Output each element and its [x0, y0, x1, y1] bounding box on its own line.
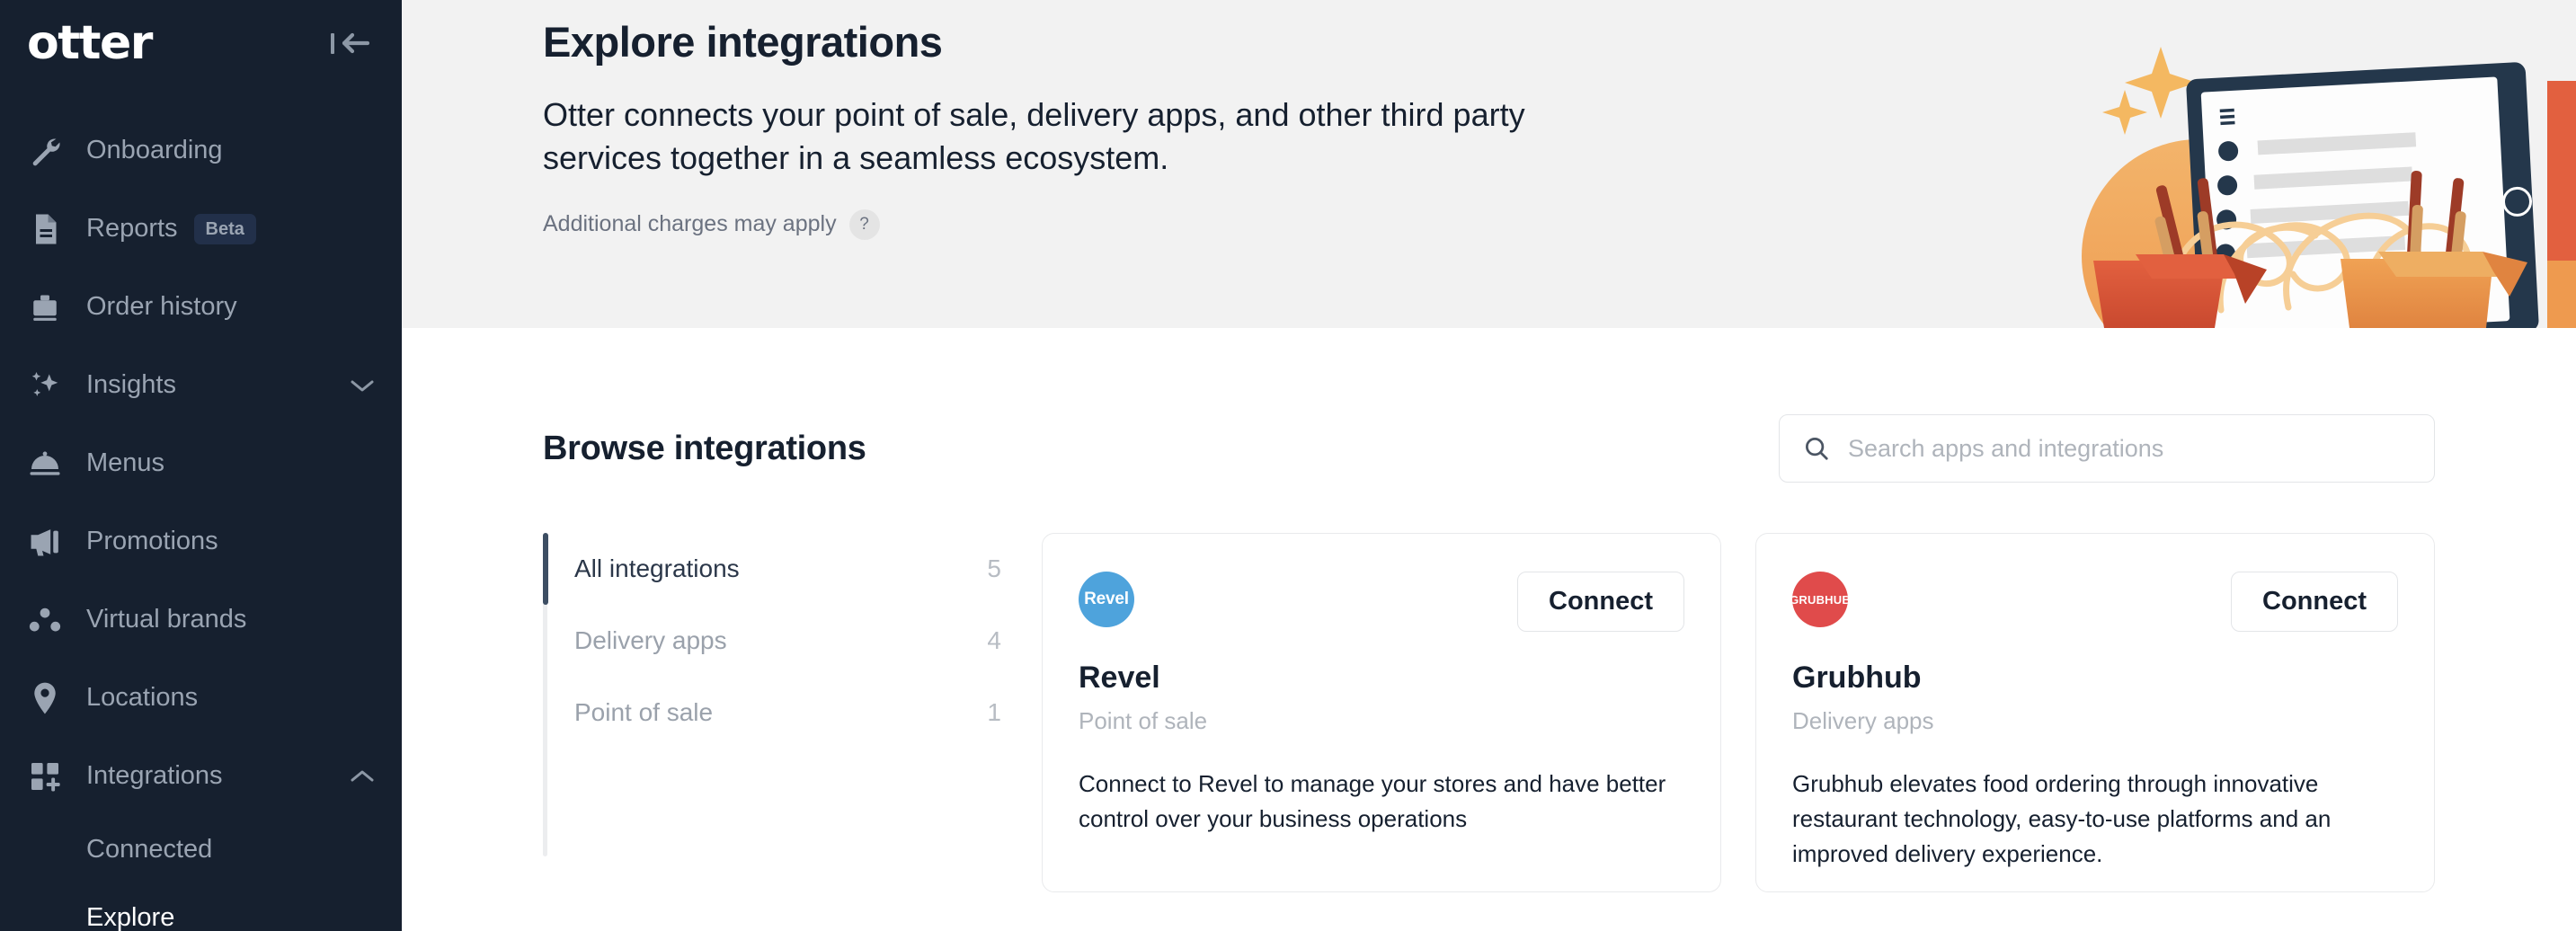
sidebar-item-promotions[interactable]: Promotions [0, 502, 402, 581]
chevron-down-icon[interactable] [350, 377, 375, 394]
main-content: Explore integrations Otter connects your… [402, 0, 2576, 931]
sidebar-item-locations[interactable]: Locations [0, 659, 402, 737]
active-marker [543, 677, 548, 749]
otter-logo: otter [27, 20, 152, 66]
sidebar-subitem-connected[interactable]: Connected [0, 815, 402, 883]
wrench-icon [27, 133, 63, 169]
three-dots-icon [27, 602, 63, 638]
collapse-bar [331, 33, 334, 54]
food-dome-icon [27, 446, 63, 482]
sidebar-item-reports[interactable]: Reports Beta [0, 190, 402, 268]
hero-note-text: Additional charges may apply [543, 213, 837, 235]
card-title: Revel [1079, 662, 1684, 693]
collapse-left-icon[interactable] [325, 24, 375, 62]
sidebar-item-order-history[interactable]: Order history [0, 268, 402, 346]
integration-cards: Revel Connect Revel Point of sale Connec… [1042, 533, 2435, 892]
map-pin-icon [27, 680, 63, 716]
sidebar-item-virtual-brands[interactable]: Virtual brands [0, 581, 402, 659]
filter-count: 4 [987, 628, 1001, 653]
document-icon [27, 211, 63, 247]
sidebar-item-label: Reports [86, 216, 178, 242]
sidebar-item-insights[interactable]: Insights [0, 346, 402, 424]
search-icon [1803, 435, 1830, 462]
hero-note: Additional charges may apply ? [543, 209, 2576, 240]
active-marker [543, 605, 548, 677]
active-marker [543, 533, 548, 605]
sidebar-header: otter [0, 0, 402, 86]
sidebar-item-label: Insights [86, 372, 176, 398]
hero-subtitle: Otter connects your point of sale, deliv… [543, 93, 1586, 181]
filter-point-of-sale[interactable]: Point of sale 1 [543, 677, 1042, 749]
browse-title: Browse integrations [543, 431, 866, 465]
card-header: GRUBHUB Connect [1792, 572, 2398, 632]
filter-count: 1 [987, 700, 1001, 725]
sidebar-subitem-label: Connected [86, 837, 212, 863]
filter-list: All integrations 5 Delivery apps 4 Point… [543, 533, 1042, 892]
filter-all-integrations[interactable]: All integrations 5 [543, 533, 1042, 605]
grid-plus-icon [27, 758, 63, 794]
search-input[interactable] [1848, 435, 2411, 463]
card-category: Point of sale [1079, 709, 1684, 732]
revel-logo-icon: Revel [1079, 572, 1134, 627]
sidebar-item-label: Locations [86, 685, 198, 711]
connect-button[interactable]: Connect [2231, 572, 2398, 632]
card-category: Delivery apps [1792, 709, 2398, 732]
app-root: otter Onboarding [0, 0, 2576, 931]
sidebar-item-label: Order history [86, 294, 237, 320]
hero-text: Explore integrations Otter connects your… [402, 0, 2576, 240]
sidebar-subitem-explore[interactable]: Explore [0, 883, 402, 931]
card-title: Grubhub [1792, 662, 2398, 693]
filter-label: All integrations [574, 556, 740, 581]
browse-header: Browse integrations [543, 414, 2576, 483]
integration-card-grubhub[interactable]: GRUBHUB Connect Grubhub Delivery apps Gr… [1755, 533, 2435, 892]
browse-integrations-section: Browse integrations All integrations 5 [402, 328, 2576, 892]
sidebar-item-label: Virtual brands [86, 607, 246, 633]
grubhub-logo-icon: GRUBHUB [1792, 572, 1848, 627]
card-description: Connect to Revel to manage your stores a… [1079, 767, 1684, 837]
sidebar-item-label: Onboarding [86, 137, 223, 164]
bag-icon [27, 289, 63, 325]
filter-label: Point of sale [574, 700, 713, 725]
megaphone-icon [27, 524, 63, 560]
card-header: Revel Connect [1079, 572, 1684, 632]
filter-delivery-apps[interactable]: Delivery apps 4 [543, 605, 1042, 677]
sidebar-nav: Onboarding Reports Beta [0, 111, 402, 931]
hero-banner: Explore integrations Otter connects your… [402, 0, 2576, 328]
sidebar-subitem-label: Explore [86, 905, 174, 931]
sidebar-item-label: Menus [86, 450, 164, 476]
sidebar: otter Onboarding [0, 0, 402, 931]
sidebar-item-label: Integrations [86, 763, 223, 789]
sidebar-item-integrations[interactable]: Integrations [0, 737, 402, 815]
search-box[interactable] [1779, 414, 2435, 483]
arrow-left-icon [339, 30, 369, 57]
sidebar-item-menus[interactable]: Menus [0, 424, 402, 502]
filter-label: Delivery apps [574, 628, 727, 653]
page-title: Explore integrations [543, 16, 2576, 69]
chevron-up-icon[interactable] [350, 768, 375, 785]
integration-card-revel[interactable]: Revel Connect Revel Point of sale Connec… [1042, 533, 1721, 892]
sparkles-icon [27, 368, 63, 403]
sidebar-item-onboarding[interactable]: Onboarding [0, 111, 402, 190]
question-mark-icon[interactable]: ? [849, 209, 880, 240]
beta-badge: Beta [194, 214, 256, 244]
filter-count: 5 [987, 556, 1001, 581]
browse-body: All integrations 5 Delivery apps 4 Point… [543, 533, 2576, 892]
sidebar-item-label: Promotions [86, 528, 218, 554]
connect-button[interactable]: Connect [1517, 572, 1684, 632]
card-description: Grubhub elevates food ordering through i… [1792, 767, 2398, 872]
